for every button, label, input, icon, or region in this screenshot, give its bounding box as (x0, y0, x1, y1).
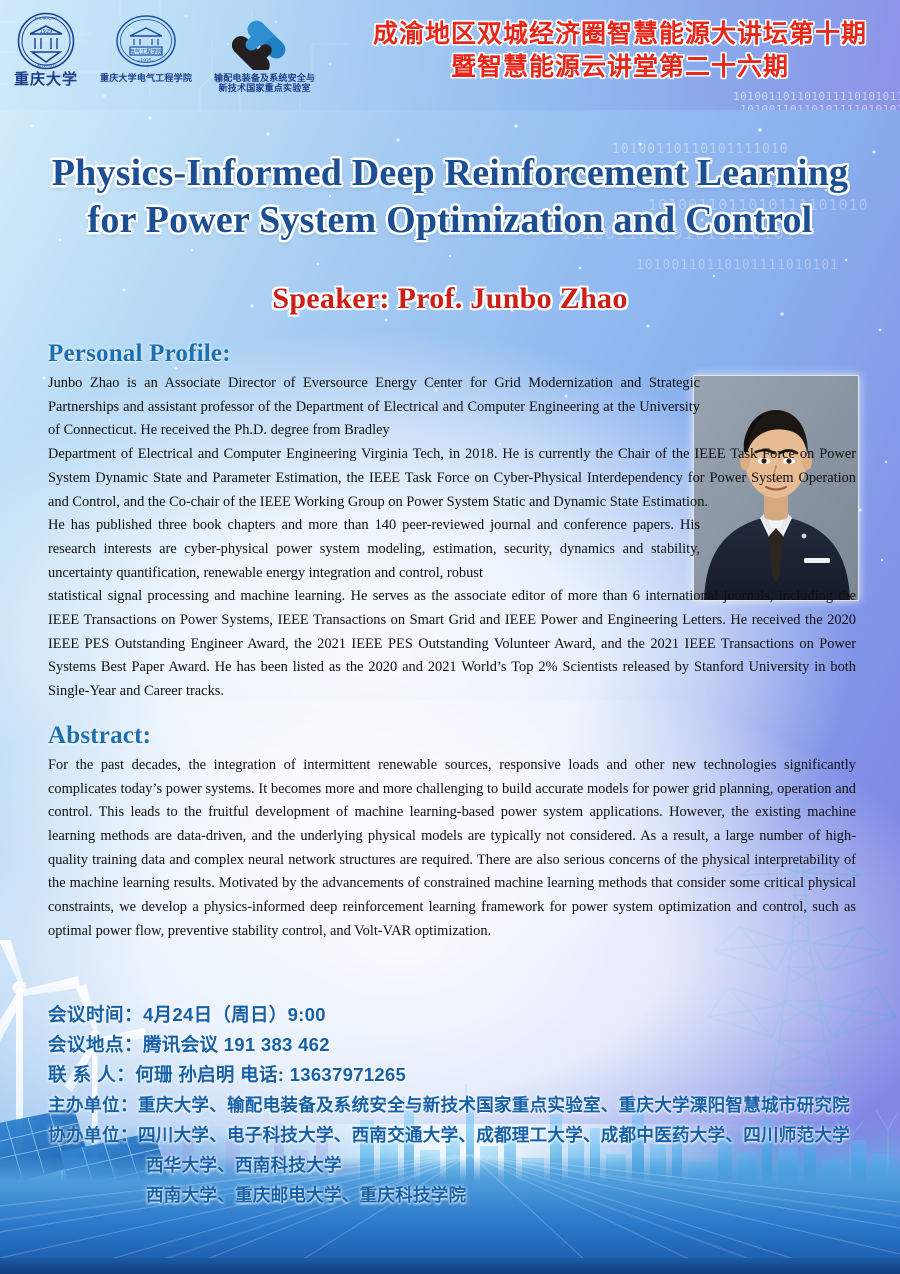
profile-paragraph-2-cont: statistical signal processing and machin… (48, 585, 856, 704)
event-series-title: 成渝地区双城经济圈智慧能源大讲坛第十期 暨智慧能源云讲堂第二十六期 (360, 18, 880, 84)
personal-profile-heading: Personal Profile: (48, 340, 856, 368)
profile-paragraph-1: Junbo Zhao is an Associate Director of E… (48, 372, 700, 443)
lecture-title-line2: for Power System Optimization and Contro… (0, 197, 900, 244)
poster-root: 10100110110101111010 1010011011010111101… (0, 0, 900, 1274)
meeting-time-row: 会议时间：4月24日（周日）9:00 (48, 1000, 878, 1030)
lab-logo-caption-line2: 新技术国家重点实验室 (219, 83, 311, 93)
coorganizer-label: 协办单位： (48, 1125, 138, 1145)
speaker-line: Speaker: Prof. Junbo Zhao (0, 280, 900, 318)
cqu-electrical-engineering-school-logo: 电气工程学院 —1935— 重庆大学电气工程学院 (100, 12, 192, 83)
cqu-logo-caption: 重庆大学 (14, 74, 78, 84)
lecture-title-line1: Physics-Informed Deep Reinforcement Lear… (0, 150, 900, 197)
profile-paragraph-1-cont: Department of Electrical and Computer En… (48, 443, 856, 514)
state-key-lab-icon (228, 12, 302, 70)
logo-group: 1929 CHONGQING UNIVERSITY 重庆大学 (14, 12, 315, 93)
lab-mark (228, 12, 302, 70)
abstract-paragraph: For the past decades, the integration of… (48, 754, 856, 944)
host-row: 主办单位：重庆大学、输配电装备及系统安全与新技术国家重点实验室、重庆大学溧阳智慧… (48, 1090, 878, 1120)
header-binary-decoration: 101001101101011110101011 101001101101011… (564, 90, 900, 110)
chongqing-university-logo: 1929 CHONGQING UNIVERSITY 重庆大学 (14, 12, 78, 84)
meeting-info-block: 会议时间：4月24日（周日）9:00 会议地点：腾讯会议 191 383 462… (48, 1000, 878, 1210)
binary-decoration-4: 10100110110101111010101 (636, 258, 839, 273)
coorganizer-row-2: 西华大学、西南科技大学 (48, 1150, 878, 1180)
svg-text:1929: 1929 (40, 29, 53, 35)
contact-row: 联 系 人：何珊 孙启明 电话: 13637971265 (48, 1060, 878, 1090)
coorganizer-row-3: 西南大学、重庆邮电大学、重庆科技学院 (48, 1180, 878, 1210)
header-binary-line1: 101001101101011110101011 (564, 90, 900, 103)
host-value: 重庆大学、输配电装备及系统安全与新技术国家重点实验室、重庆大学溧阳智慧城市研究院 (138, 1095, 850, 1115)
contact-label: 联 系 人： (48, 1064, 135, 1085)
svg-text:电气工程学院: 电气工程学院 (129, 48, 163, 56)
meeting-place-value: 腾讯会议 191 383 462 (143, 1034, 330, 1055)
svg-text:UNIVERSITY: UNIVERSITY (35, 64, 57, 68)
coorganizer-value: 四川大学、电子科技大学、西南交通大学、成都理工大学、成都中医药大学、四川师范大学 (138, 1125, 850, 1145)
profile-paragraph-2: He has published three book chapters and… (48, 514, 700, 585)
meeting-place-row: 会议地点：腾讯会议 191 383 462 (48, 1030, 878, 1060)
cqu-seal-icon: 1929 CHONGQING UNIVERSITY (17, 12, 75, 70)
header-binary-line2: 10100110110101111010101 (564, 103, 900, 110)
abstract-heading: Abstract: (48, 722, 856, 750)
event-series-title-line1: 成渝地区双城经济圈智慧能源大讲坛第十期 (360, 18, 880, 51)
school-logo-caption: 重庆大学电气工程学院 (100, 73, 192, 83)
contact-value: 何珊 孙启明 电话: 13637971265 (135, 1064, 406, 1085)
state-key-lab-logo: 输配电装备及系统安全与 新技术国家重点实验室 (214, 12, 315, 93)
coorganizer-row: 协办单位：四川大学、电子科技大学、西南交通大学、成都理工大学、成都中医药大学、四… (48, 1120, 878, 1150)
header-band: 1929 CHONGQING UNIVERSITY 重庆大学 (0, 0, 900, 110)
event-series-title-line2: 暨智慧能源云讲堂第二十六期 (360, 51, 880, 84)
cqu-seal-mark: 1929 CHONGQING UNIVERSITY (17, 12, 75, 70)
content-area: Personal Profile: Junbo Zhao is an Assoc… (48, 340, 856, 943)
lecture-title: Physics-Informed Deep Reinforcement Lear… (0, 150, 900, 244)
school-seal-icon: 电气工程学院 —1935— (115, 13, 177, 69)
meeting-time-value: 4月24日（周日）9:00 (143, 1004, 326, 1025)
meeting-time-label: 会议时间： (48, 1004, 143, 1025)
svg-text:—1935—: —1935— (136, 58, 157, 64)
lab-logo-caption-line1: 输配电装备及系统安全与 (214, 73, 315, 83)
host-label: 主办单位： (48, 1095, 138, 1115)
footer-bar (0, 1258, 900, 1274)
svg-text:CHONGQING: CHONGQING (35, 17, 58, 21)
school-seal-mark: 电气工程学院 —1935— (115, 12, 177, 70)
meeting-place-label: 会议地点： (48, 1034, 143, 1055)
